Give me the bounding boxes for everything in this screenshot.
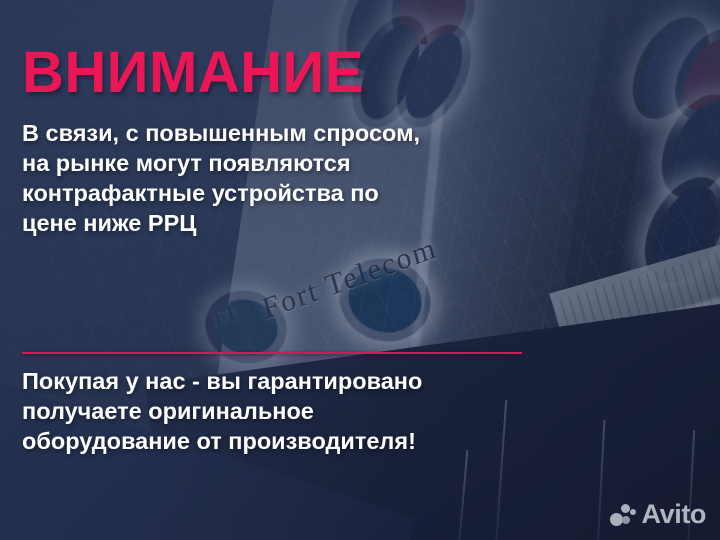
warning-line-2: на рынке могут появляются xyxy=(22,148,522,178)
headline-attention: ВНИМАНИЕ xyxy=(22,44,364,102)
promise-line-3: оборудование от производителя! xyxy=(22,426,552,456)
avito-logo-icon xyxy=(610,504,636,526)
warning-paragraph: В связи, с повышенным спросом, на рынке … xyxy=(22,118,522,238)
warning-line-3: контрафактные устройства по xyxy=(22,178,522,208)
section-divider xyxy=(22,352,522,354)
advertisement-banner: Fort Telecom FT ВНИМАНИЕ В связи, с повы… xyxy=(0,0,720,540)
promise-line-1: Покупая у нас - вы гарантировано xyxy=(22,366,552,396)
warning-line-1: В связи, с повышенным спросом, xyxy=(22,118,522,148)
avito-watermark: Avito xyxy=(610,501,707,528)
warning-line-4: цене ниже РРЦ xyxy=(22,208,522,238)
avito-wordmark: Avito xyxy=(642,501,707,528)
promise-paragraph: Покупая у нас - вы гарантировано получае… xyxy=(22,366,552,456)
promise-line-2: получаете оригинальное xyxy=(22,396,552,426)
banner-content: ВНИМАНИЕ В связи, с повышенным спросом, … xyxy=(0,0,720,540)
